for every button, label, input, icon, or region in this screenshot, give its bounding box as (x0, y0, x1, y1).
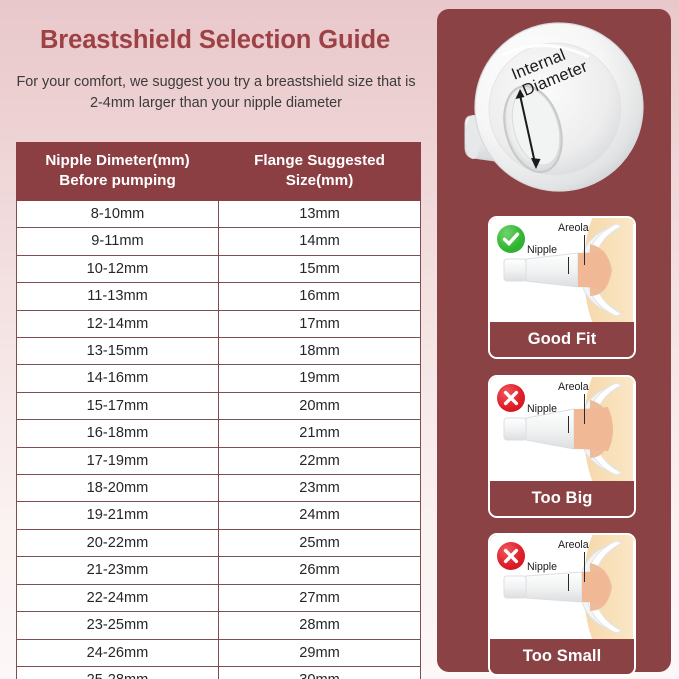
fit-card-too-small: AreolaNippleToo Small (488, 533, 636, 676)
column-header-nipple-diameter: Nipple Dimeter(mm) Before pumping (17, 143, 219, 201)
column-header-flange-size-line2: Size(mm) (286, 172, 354, 189)
leader-line-nipple (568, 574, 569, 591)
label-nipple: Nipple (527, 244, 557, 256)
table-row: 23-25mm28mm (17, 612, 421, 639)
table-row: 12-14mm17mm (17, 310, 421, 337)
fit-illustration: AreolaNipple (490, 535, 634, 639)
fit-card-caption: Too Big (490, 481, 634, 517)
cell-nipple-diameter: 8-10mm (17, 201, 219, 228)
cell-nipple-diameter: 12-14mm (17, 310, 219, 337)
table-row: 20-22mm25mm (17, 529, 421, 556)
table-row: 25-28mm30mm (17, 666, 421, 679)
page-subtitle: For your comfort, we suggest you try a b… (16, 72, 416, 114)
table-header: Nipple Dimeter(mm) Before pumping Flange… (17, 143, 421, 201)
cell-flange-size: 25mm (219, 529, 421, 556)
cell-flange-size: 28mm (219, 612, 421, 639)
breastshield-selection-guide-page: Breastshield Selection Guide For your co… (0, 0, 679, 679)
cell-flange-size: 19mm (219, 365, 421, 392)
column-header-nipple-diameter-line2: Before pumping (59, 172, 175, 189)
leader-line-areola (584, 552, 585, 582)
leader-line-nipple (568, 416, 569, 433)
table-row: 9-11mm14mm (17, 228, 421, 255)
fit-card-caption: Too Small (490, 639, 634, 675)
table-row: 13-15mm18mm (17, 338, 421, 365)
column-header-nipple-diameter-line1: Nipple Dimeter(mm) (45, 152, 189, 169)
cell-nipple-diameter: 18-20mm (17, 475, 219, 502)
check-circle-icon (497, 225, 525, 253)
cell-nipple-diameter: 23-25mm (17, 612, 219, 639)
cell-flange-size: 29mm (219, 639, 421, 666)
cell-nipple-diameter: 13-15mm (17, 338, 219, 365)
cell-flange-size: 14mm (219, 228, 421, 255)
cell-flange-size: 16mm (219, 283, 421, 310)
cell-flange-size: 17mm (219, 310, 421, 337)
leader-line-areola (584, 394, 585, 424)
cell-flange-size: 15mm (219, 255, 421, 282)
cell-flange-size: 30mm (219, 666, 421, 679)
illustration-panel: Internal Diameter AreolaNippleGood FitAr… (437, 9, 671, 672)
column-header-flange-size-line1: Flange Suggested (254, 152, 385, 169)
table-row: 21-23mm26mm (17, 557, 421, 584)
cell-nipple-diameter: 24-26mm (17, 639, 219, 666)
table-row: 11-13mm16mm (17, 283, 421, 310)
table-row: 22-24mm27mm (17, 584, 421, 611)
cell-nipple-diameter: 20-22mm (17, 529, 219, 556)
cell-flange-size: 24mm (219, 502, 421, 529)
leader-line-nipple (568, 257, 569, 274)
guide-left-column: Breastshield Selection Guide For your co… (0, 0, 430, 679)
cell-flange-size: 21mm (219, 420, 421, 447)
cell-nipple-diameter: 11-13mm (17, 283, 219, 310)
cell-nipple-diameter: 17-19mm (17, 447, 219, 474)
x-circle-icon (497, 384, 525, 412)
cell-nipple-diameter: 14-16mm (17, 365, 219, 392)
x-circle-icon (497, 542, 525, 570)
cell-flange-size: 13mm (219, 201, 421, 228)
table-row: 16-18mm21mm (17, 420, 421, 447)
cell-nipple-diameter: 22-24mm (17, 584, 219, 611)
table-row: 18-20mm23mm (17, 475, 421, 502)
label-nipple: Nipple (527, 561, 557, 573)
label-areola: Areola (558, 539, 589, 551)
table-row: 14-16mm19mm (17, 365, 421, 392)
cell-nipple-diameter: 9-11mm (17, 228, 219, 255)
cell-nipple-diameter: 15-17mm (17, 392, 219, 419)
leader-line-areola (584, 235, 585, 265)
label-nipple: Nipple (527, 403, 557, 415)
cell-flange-size: 18mm (219, 338, 421, 365)
table-row: 19-21mm24mm (17, 502, 421, 529)
fit-card-good-fit: AreolaNippleGood Fit (488, 216, 636, 359)
cell-nipple-diameter: 19-21mm (17, 502, 219, 529)
cell-nipple-diameter: 21-23mm (17, 557, 219, 584)
table-body: 8-10mm13mm9-11mm14mm10-12mm15mm11-13mm16… (17, 201, 421, 679)
label-areola: Areola (558, 222, 589, 234)
table-row: 24-26mm29mm (17, 639, 421, 666)
cell-nipple-diameter: 16-18mm (17, 420, 219, 447)
cell-flange-size: 26mm (219, 557, 421, 584)
cell-flange-size: 22mm (219, 447, 421, 474)
table-row: 15-17mm20mm (17, 392, 421, 419)
table-row: 17-19mm22mm (17, 447, 421, 474)
table-header-row: Nipple Dimeter(mm) Before pumping Flange… (17, 143, 421, 201)
column-header-flange-size: Flange Suggested Size(mm) (219, 143, 421, 201)
fit-illustration: AreolaNipple (490, 218, 634, 322)
cell-flange-size: 20mm (219, 392, 421, 419)
size-chart-table: Nipple Dimeter(mm) Before pumping Flange… (16, 142, 421, 679)
cell-flange-size: 27mm (219, 584, 421, 611)
page-title: Breastshield Selection Guide (0, 26, 430, 55)
fit-illustration: AreolaNipple (490, 377, 634, 481)
cell-nipple-diameter: 25-28mm (17, 666, 219, 679)
fit-card-too-big: AreolaNippleToo Big (488, 375, 636, 518)
cell-flange-size: 23mm (219, 475, 421, 502)
table-row: 8-10mm13mm (17, 201, 421, 228)
breastshield-flange-illustration: Internal Diameter (437, 11, 671, 209)
cell-nipple-diameter: 10-12mm (17, 255, 219, 282)
flange-graphic (437, 11, 671, 209)
label-areola: Areola (558, 381, 589, 393)
fit-card-caption: Good Fit (490, 322, 634, 358)
table-row: 10-12mm15mm (17, 255, 421, 282)
